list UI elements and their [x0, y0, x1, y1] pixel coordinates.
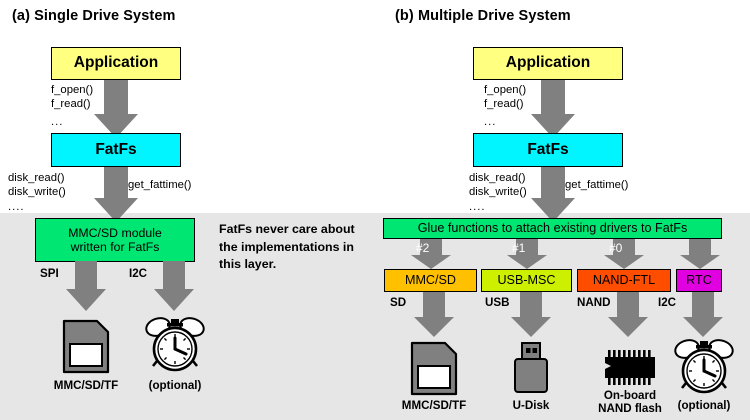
- layer-note-line-3: this layer.: [219, 256, 369, 274]
- driver-box-nand-ftl[interactable]: NAND-FTL: [577, 269, 671, 292]
- app-call-ellipsis-b: ...: [484, 116, 496, 128]
- bus-label-nand: NAND: [577, 296, 611, 309]
- bus-label-i2c-b: I2C: [658, 296, 676, 309]
- device-caption-u-disk: U-Disk: [481, 399, 581, 412]
- arrow-fatfs-to-glue-b: [531, 164, 575, 222]
- arrow-i2c-a: [154, 261, 194, 311]
- mmc-sd-module-line2: written for FatFs: [71, 240, 160, 255]
- fatfs-call-disk-write-a: disk_write(): [8, 185, 66, 199]
- fatfs-call-disk-write-b: disk_write(): [469, 185, 527, 199]
- app-call-f-open-b: f_open(): [484, 83, 526, 97]
- panel-b-title: (b) Multiple Drive System: [395, 8, 571, 24]
- arrow-usb-bus: [511, 292, 551, 337]
- mmc-sd-module-box-a[interactable]: MMC/SD module written for FatFs: [35, 218, 195, 262]
- bus-label-sd: SD: [390, 296, 406, 309]
- usb-drive-icon: [512, 340, 550, 397]
- drive-number-0: #0: [609, 241, 622, 255]
- diagram-canvas: (a) Single Drive System Application f_op…: [0, 0, 750, 420]
- drive-number-2: #2: [416, 241, 429, 255]
- application-box-b[interactable]: Application: [473, 47, 623, 80]
- glue-functions-box[interactable]: Glue functions to attach existing driver…: [383, 218, 722, 239]
- layer-note-a: FatFs never care about the implementatio…: [219, 221, 369, 274]
- fatfs-call-get-fattime-b: get_fattime(): [565, 178, 628, 192]
- panel-a-title: (a) Single Drive System: [12, 8, 175, 24]
- bus-label-i2c-a: I2C: [129, 267, 147, 280]
- arrow-app-to-fatfs-a: [94, 76, 138, 138]
- fatfs-call-get-fattime-a: get_fattime(): [128, 178, 191, 192]
- fatfs-box-b[interactable]: FatFs: [473, 133, 623, 167]
- nand-flash-chip-icon: [601, 349, 659, 386]
- mmc-sd-module-line1: MMC/SD module: [68, 226, 162, 241]
- device-caption-optional-b: (optional): [654, 399, 750, 412]
- sd-card-icon: [409, 340, 459, 397]
- app-call-ellipsis-a: ...: [51, 116, 63, 128]
- application-box-a[interactable]: Application: [51, 47, 181, 80]
- layer-note-line-2: the implementations in: [219, 239, 369, 257]
- driver-box-rtc[interactable]: RTC: [676, 269, 722, 292]
- arrow-app-to-fatfs-b: [531, 76, 575, 138]
- sd-card-icon: [61, 318, 111, 375]
- fatfs-call-disk-read-b: disk_read(): [469, 171, 526, 185]
- arrow-fatfs-to-module-a: [94, 164, 138, 222]
- driver-box-usb-msc[interactable]: USB-MSC: [481, 269, 572, 292]
- arrow-nand-bus: [608, 292, 648, 337]
- bus-label-spi-a: SPI: [40, 267, 59, 280]
- layer-note-line-1: FatFs never care about: [219, 221, 369, 239]
- arrow-i2c-bus: [683, 292, 723, 337]
- alarm-clock-icon: [673, 336, 735, 398]
- arrow-glue-to-rtc: [680, 239, 720, 269]
- alarm-clock-icon: [144, 314, 206, 376]
- fatfs-call-ellipsis-a: ....: [8, 201, 25, 213]
- arrow-spi-a: [66, 261, 106, 311]
- app-call-f-read-b: f_read(): [484, 97, 524, 111]
- device-caption-mmc-sd-tf-a: MMC/SD/TF: [36, 379, 136, 392]
- driver-box-mmc-sd[interactable]: MMC/SD: [384, 269, 477, 292]
- app-call-f-open-a: f_open(): [51, 83, 93, 97]
- device-caption-mmc-sd-tf-b: MMC/SD/TF: [384, 399, 484, 412]
- arrow-sd-bus: [414, 292, 454, 337]
- fatfs-box-a[interactable]: FatFs: [51, 133, 181, 167]
- drive-number-1: #1: [512, 241, 525, 255]
- fatfs-call-ellipsis-b: ....: [469, 201, 486, 213]
- app-call-f-read-a: f_read(): [51, 97, 91, 111]
- device-caption-optional-a: (optional): [125, 379, 225, 392]
- bus-label-usb: USB: [485, 296, 509, 309]
- fatfs-call-disk-read-a: disk_read(): [8, 171, 65, 185]
